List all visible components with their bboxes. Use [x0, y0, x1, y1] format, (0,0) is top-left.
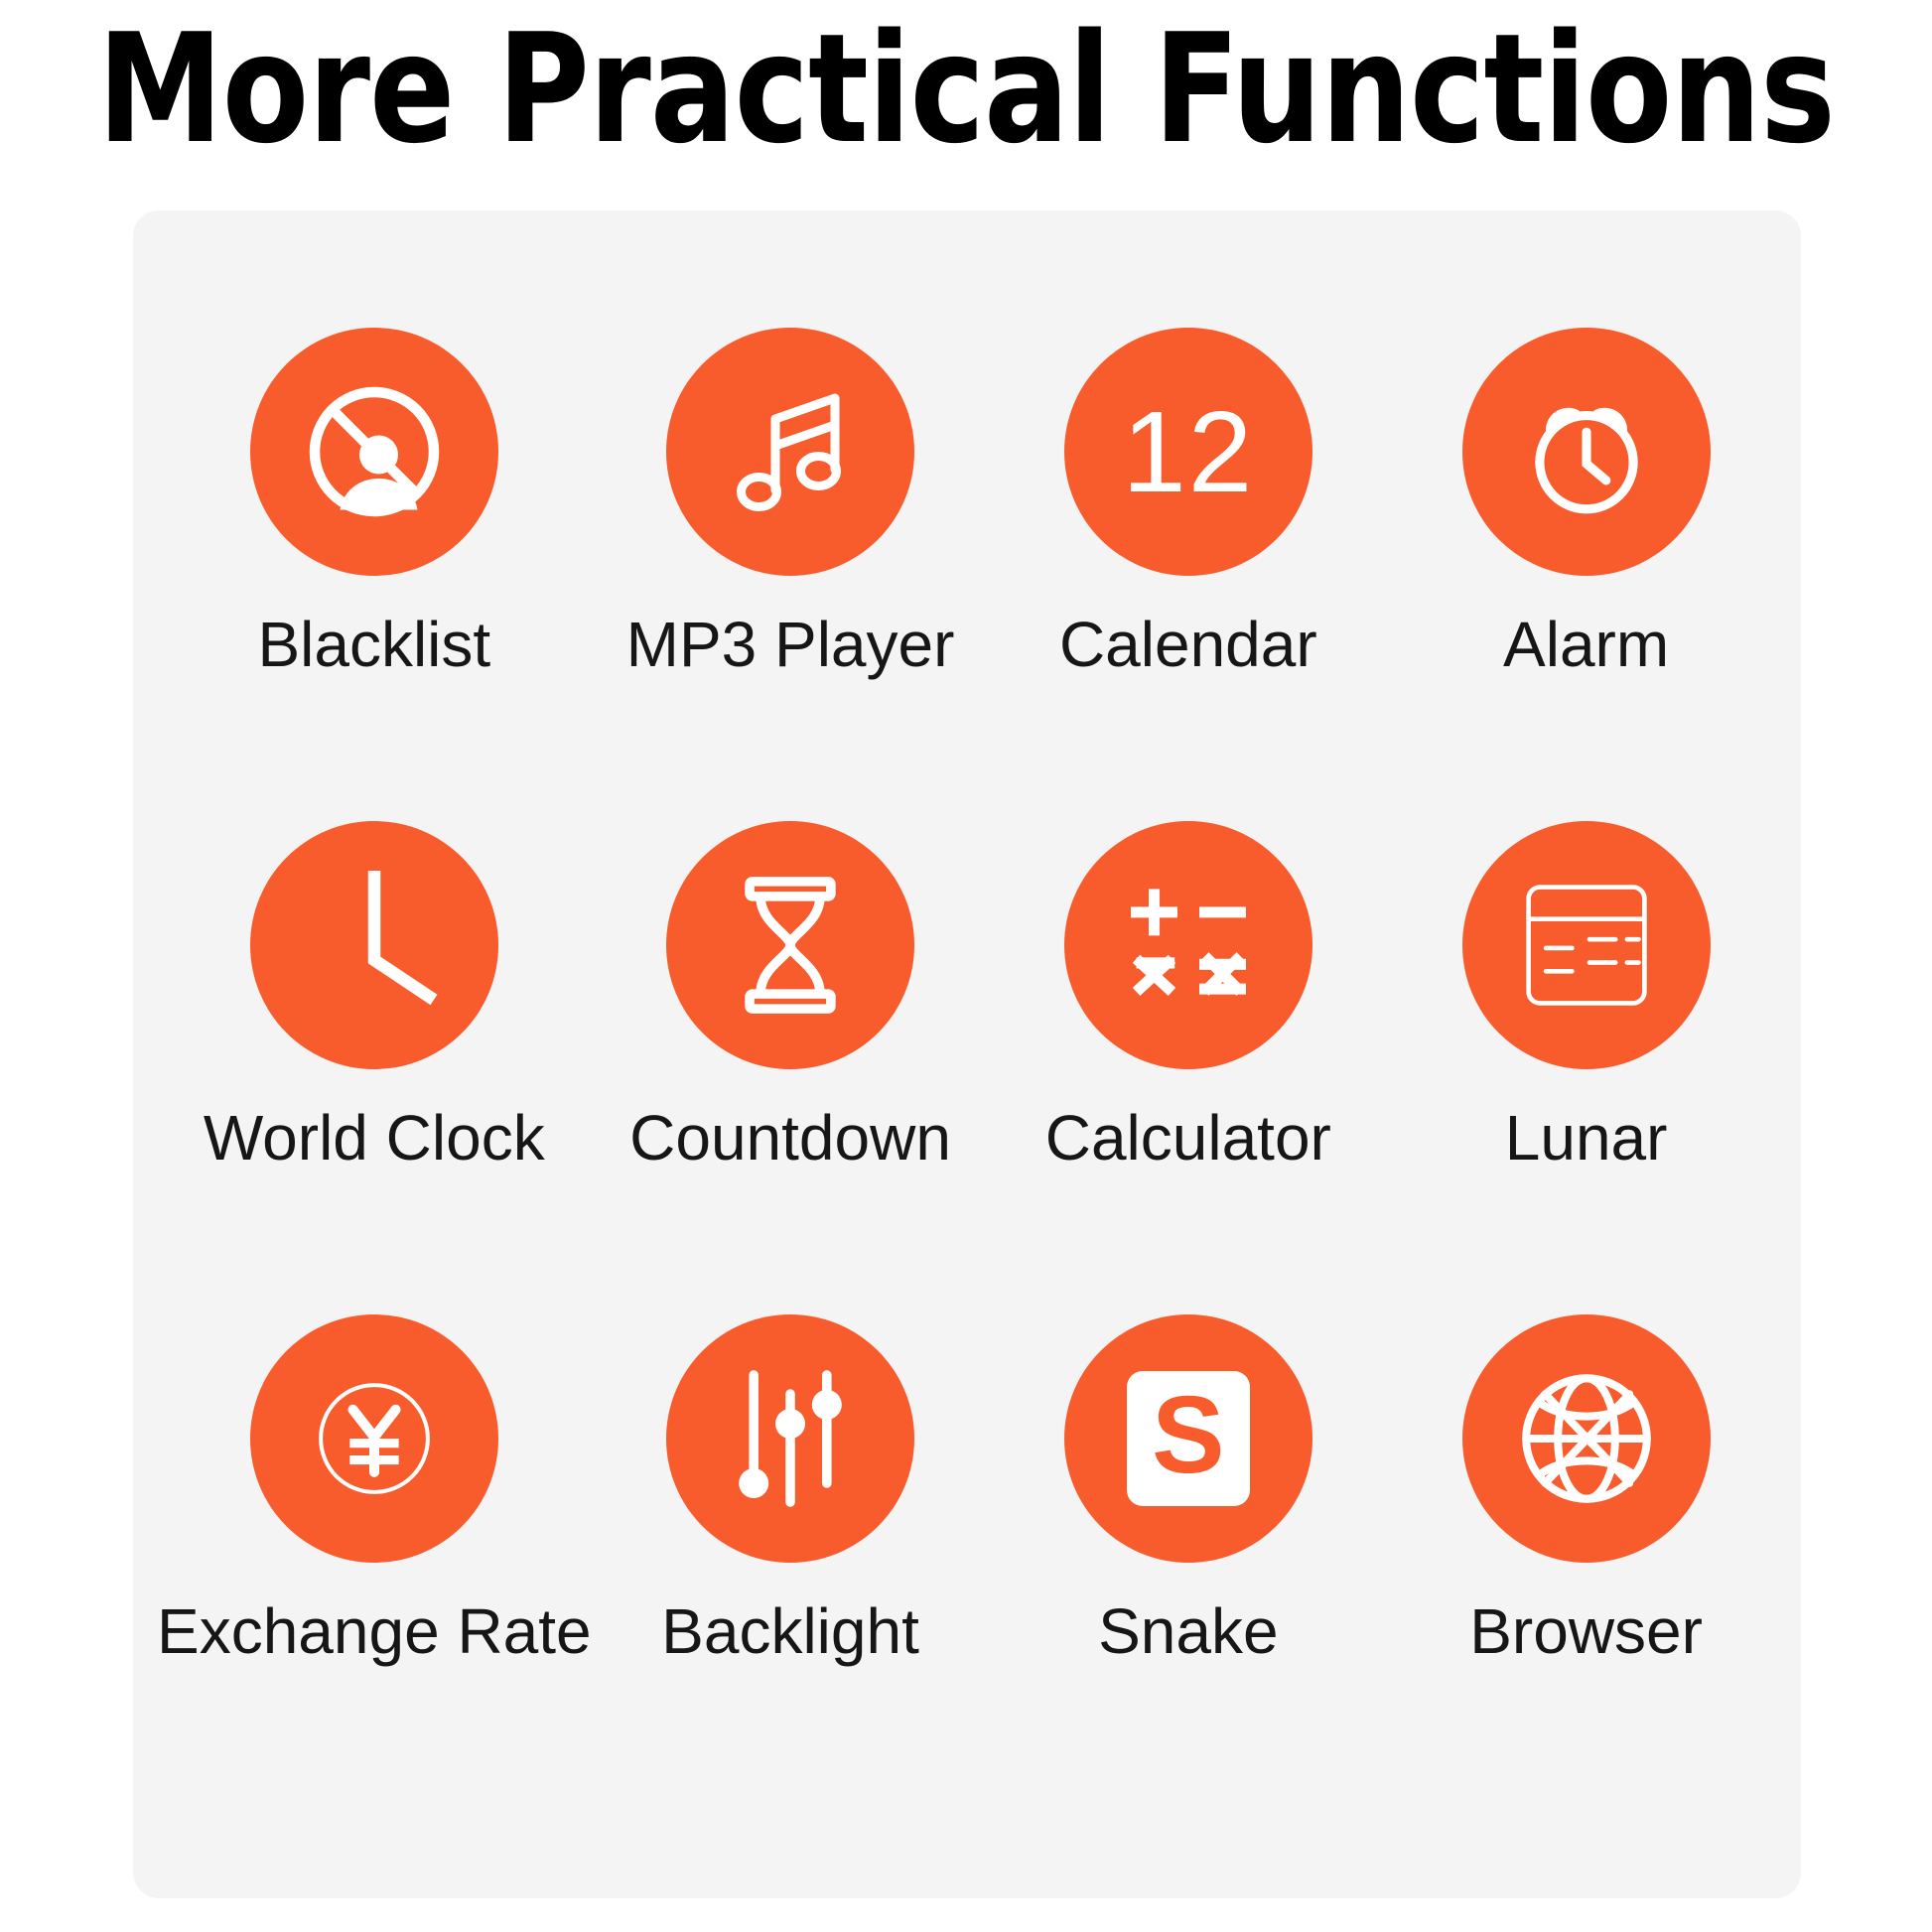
- feature-label: Lunar: [1505, 1101, 1668, 1174]
- promo-page: More Practical Functions Blacklist: [0, 0, 1932, 1932]
- calculator-icon: [1120, 877, 1257, 1014]
- feature-blacklist[interactable]: Blacklist: [157, 328, 592, 821]
- feature-calculator[interactable]: Calculator: [989, 821, 1387, 1314]
- feature-backlight[interactable]: Backlight: [592, 1314, 990, 1808]
- feature-alarm[interactable]: Alarm: [1387, 328, 1785, 821]
- hourglass-icon: [721, 871, 860, 1020]
- snake-letter: S: [1152, 1381, 1224, 1490]
- globe-icon-badge: [1462, 1314, 1711, 1563]
- globe-icon: [1507, 1359, 1666, 1518]
- feature-world-clock[interactable]: World Clock: [157, 821, 592, 1314]
- sliders-icon: [726, 1364, 855, 1513]
- feature-label: MP3 Player: [626, 608, 955, 681]
- sliders-icon-badge: [666, 1314, 914, 1563]
- alarm-clock-icon: [1511, 376, 1662, 527]
- blacklist-icon-badge: [250, 328, 498, 576]
- feature-calendar[interactable]: 12 Calendar: [989, 328, 1387, 821]
- feature-browser[interactable]: Browser: [1387, 1314, 1785, 1808]
- calculator-icon-badge: [1064, 821, 1312, 1069]
- clock-hands-icon: [250, 821, 498, 1069]
- feature-label: Calculator: [1045, 1101, 1331, 1174]
- snake-icon: S: [1127, 1371, 1250, 1506]
- calendar-12-icon: 12: [1122, 394, 1254, 509]
- page-title: More Practical Functions: [68, 10, 1864, 169]
- hourglass-icon-badge: [666, 821, 914, 1069]
- blacklist-icon: [300, 377, 449, 526]
- feature-label: Blacklist: [257, 608, 490, 681]
- alarm-clock-icon-badge: [1462, 328, 1711, 576]
- yen-circle-icon: [298, 1362, 451, 1515]
- feature-label: Backlight: [661, 1594, 919, 1668]
- yen-circle-icon-badge: [250, 1314, 498, 1563]
- feature-label: Countdown: [629, 1101, 951, 1174]
- music-note-icon-badge: [666, 328, 914, 576]
- music-note-icon: [716, 377, 865, 526]
- feature-mp3-player[interactable]: MP3 Player: [592, 328, 990, 821]
- features-grid: Blacklist MP3 Player 12 Cale: [157, 328, 1785, 1808]
- lunar-calendar-icon-badge: [1462, 821, 1711, 1069]
- feature-label: Alarm: [1503, 608, 1669, 681]
- feature-label: Exchange Rate: [157, 1594, 592, 1668]
- feature-exchange-rate[interactable]: Exchange Rate: [157, 1314, 592, 1808]
- calendar-12-icon-badge: 12: [1064, 328, 1312, 576]
- feature-label: Browser: [1469, 1594, 1703, 1668]
- snake-icon-badge: S: [1064, 1314, 1312, 1563]
- feature-label: World Clock: [204, 1101, 545, 1174]
- feature-label: Snake: [1098, 1594, 1278, 1668]
- lunar-calendar-icon: [1514, 873, 1659, 1018]
- feature-snake[interactable]: S Snake: [989, 1314, 1387, 1808]
- feature-countdown[interactable]: Countdown: [592, 821, 990, 1314]
- feature-label: Calendar: [1059, 608, 1317, 681]
- feature-lunar[interactable]: Lunar: [1387, 821, 1785, 1314]
- clock-hands-icon-badge: [250, 821, 498, 1069]
